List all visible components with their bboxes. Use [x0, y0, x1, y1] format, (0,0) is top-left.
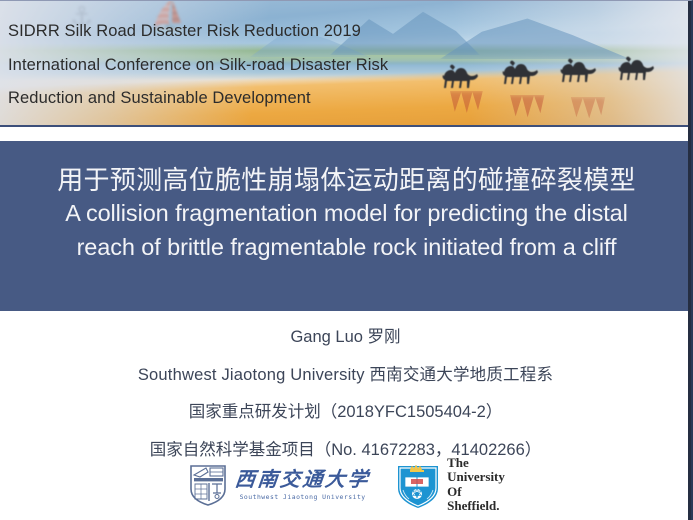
- camel-icon: [556, 57, 602, 87]
- swjtu-english-name: Southwest Jiaotong University: [240, 494, 366, 500]
- conference-banner: ⚓ ⛵ SIDRR Silk Road Disaster Risk Reduct…: [0, 1, 693, 127]
- camel-icon: [498, 59, 544, 89]
- slide-right-edge: [688, 1, 691, 520]
- logo-row: 西南交通大学 Southwest Jiaotong University: [0, 456, 693, 514]
- camel-icon: [614, 55, 660, 85]
- banner-text-block: SIDRR Silk Road Disaster Risk Reduction …: [8, 23, 388, 124]
- banner-line-1: SIDRR Silk Road Disaster Risk Reduction …: [8, 23, 388, 40]
- banner-line-2: International Conference on Silk-road Di…: [8, 57, 388, 74]
- affiliation: Southwest Jiaotong University 西南交通大学地质工程…: [0, 367, 691, 384]
- author-meta-block: Gang Luo 罗刚 Southwest Jiaotong Universit…: [0, 311, 691, 458]
- sheffield-line-4: Sheffield.: [447, 499, 505, 514]
- sheffield-shield-icon: [396, 460, 440, 510]
- presentation-slide: ⚓ ⛵ SIDRR Silk Road Disaster Risk Reduct…: [0, 0, 693, 520]
- sheffield-line-2: University: [447, 470, 505, 485]
- swjtu-chinese-name: 西南交通大学: [234, 470, 371, 490]
- swjtu-wordmark: 西南交通大学 Southwest Jiaotong University: [235, 470, 370, 500]
- banner-line-3: Reduction and Sustainable Development: [8, 90, 388, 107]
- sheffield-logo: The University Of Sheffield.: [396, 456, 505, 514]
- camel-caravan: [438, 53, 688, 97]
- sheffield-line-3: Of: [447, 485, 505, 500]
- swjtu-logo: 西南交通大学 Southwest Jiaotong University: [188, 463, 370, 507]
- camel-icon: [438, 63, 484, 93]
- sheffield-wordmark: The University Of Sheffield.: [447, 456, 505, 514]
- sheffield-line-1: The: [447, 456, 505, 471]
- grant-national-key-rd: 国家重点研发计划（2018YFC1505404-2）: [0, 404, 691, 421]
- author-name: Gang Luo 罗刚: [0, 329, 691, 346]
- banner-title-spacer: [0, 127, 691, 141]
- title-chinese: 用于预测高位脆性崩塌体运动距离的碰撞碎裂模型: [10, 163, 683, 197]
- title-english-line-2: reach of brittle fragmentable rock initi…: [10, 231, 683, 264]
- title-band: 用于预测高位脆性崩塌体运动距离的碰撞碎裂模型 A collision fragm…: [0, 141, 693, 311]
- title-english-line-1: A collision fragmentation model for pred…: [10, 197, 683, 230]
- swjtu-crest-icon: [188, 463, 228, 507]
